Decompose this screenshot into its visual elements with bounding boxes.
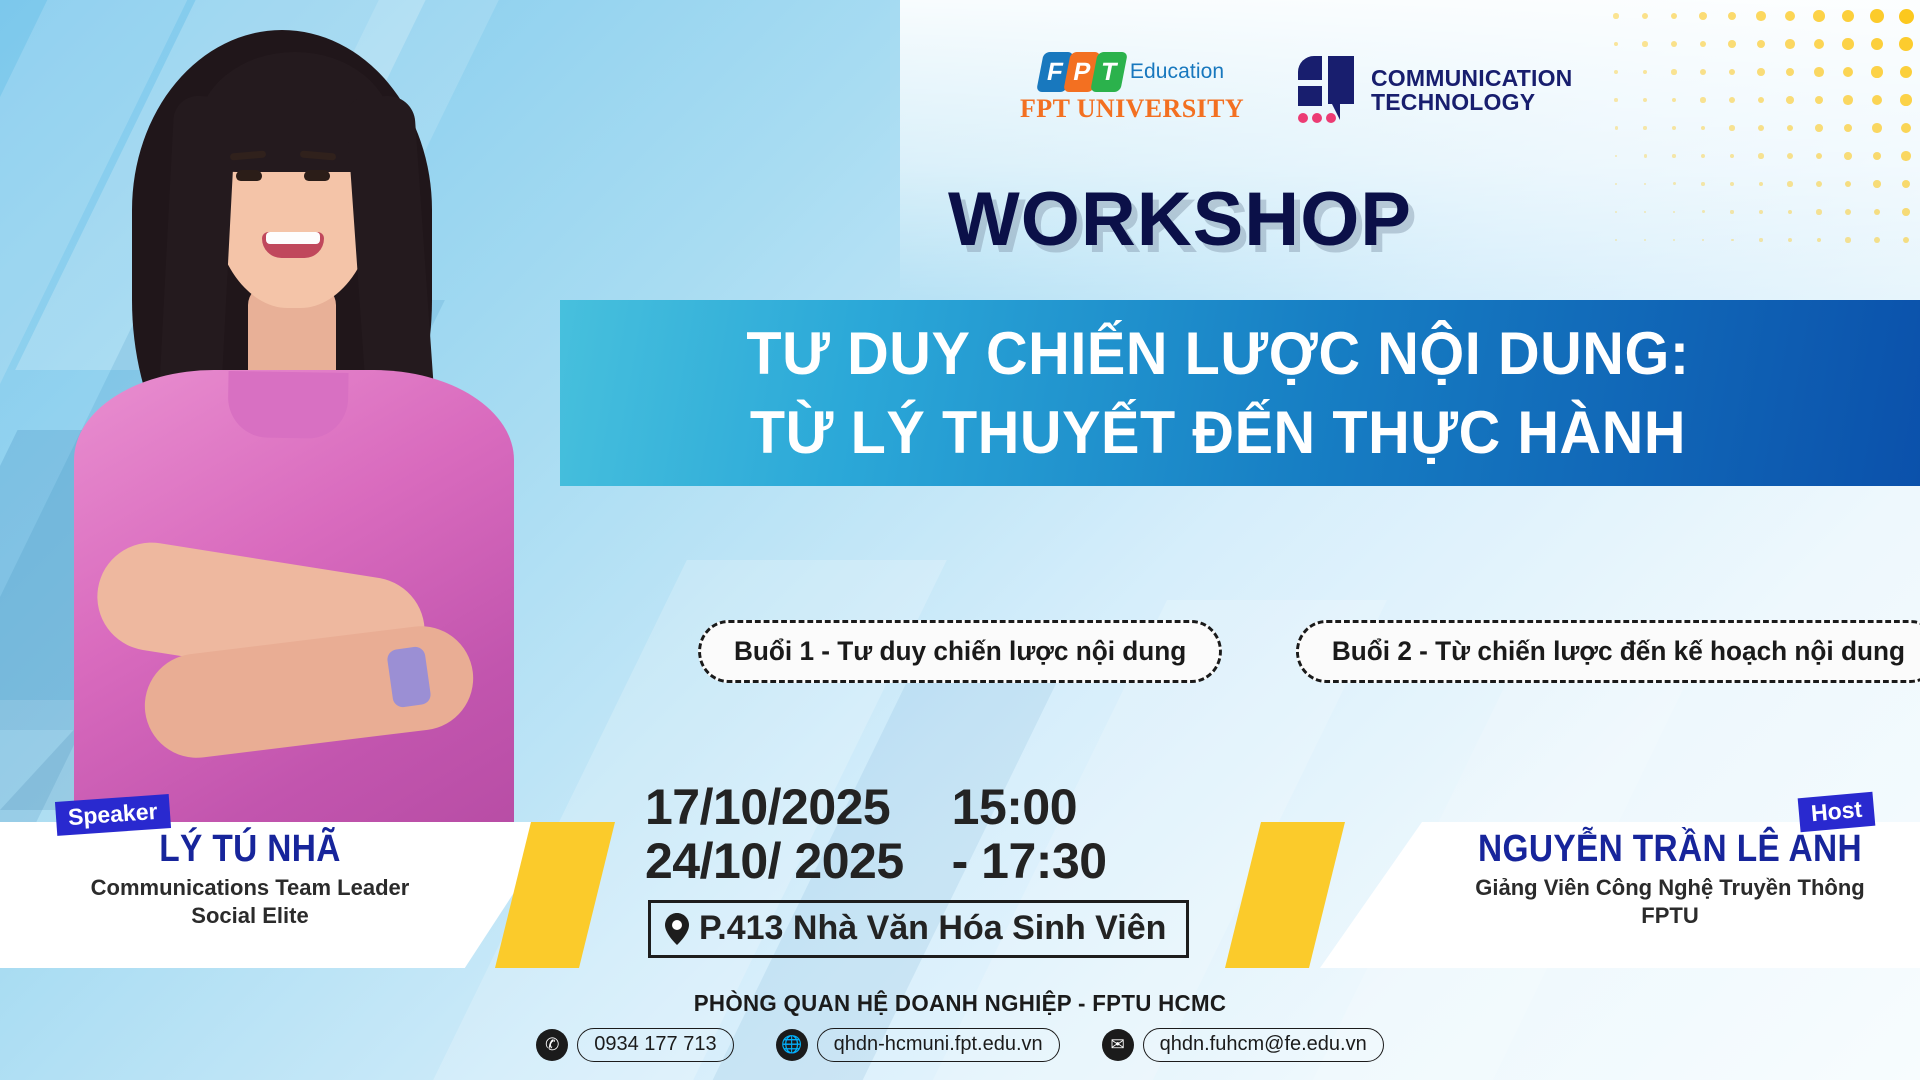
fpt-letter-t: T bbox=[1090, 52, 1128, 92]
schedule-time-start: 15:00 bbox=[952, 780, 1107, 834]
schedule-dates: 17/10/2025 24/10/ 2025 bbox=[645, 780, 904, 888]
session-list: Buổi 1 - Tư duy chiến lược nội dung Buổi… bbox=[690, 620, 1920, 683]
map-pin-icon bbox=[665, 913, 689, 945]
host-info: NGUYỄN TRẦN LÊ ANH Giảng Viên Công Nghệ … bbox=[1430, 828, 1910, 929]
host-tag-badge: Host bbox=[1798, 792, 1876, 832]
yellow-accent-right bbox=[1225, 822, 1345, 968]
ct-logo-line-2: TECHNOLOGY bbox=[1371, 90, 1572, 114]
contact-website-value: qhdn-hcmuni.fpt.edu.vn bbox=[817, 1028, 1060, 1062]
speaker-role-line-1: Communications Team Leader bbox=[10, 874, 490, 902]
schedule-datetime: 17/10/2025 24/10/ 2025 15:00 - 17:30 bbox=[645, 780, 1107, 888]
poster-canvas: F P T Education FPT UNIVERSITY COMMUNICA… bbox=[0, 0, 1920, 1080]
fpt-logo-mark: F P T bbox=[1036, 52, 1125, 92]
workshop-title-line-1: TƯ DUY CHIẾN LƯỢC NỘI DUNG: bbox=[586, 314, 1849, 393]
session-pill-2[interactable]: Buổi 2 - Từ chiến lược đến kế hoạch nội … bbox=[1296, 620, 1920, 683]
fpt-education-label: Education bbox=[1130, 60, 1224, 84]
host-role-line-2: FPTU bbox=[1430, 902, 1910, 930]
contact-phone-value: 0934 177 713 bbox=[577, 1028, 733, 1062]
speaker-portrait-photo bbox=[60, 0, 530, 890]
contact-email[interactable]: ✉ qhdn.fuhcm@fe.edu.vn bbox=[1102, 1028, 1384, 1062]
schedule-times: 15:00 - 17:30 bbox=[952, 780, 1107, 888]
logo-bar: F P T Education FPT UNIVERSITY COMMUNICA… bbox=[1020, 52, 1572, 126]
host-role-line-1: Giảng Viên Công Nghệ Truyền Thông bbox=[1430, 874, 1910, 902]
schedule-date-2: 24/10/ 2025 bbox=[645, 834, 904, 888]
speaker-info: LÝ TÚ NHÃ Communications Team Leader Soc… bbox=[10, 828, 490, 929]
host-name: NGUYỄN TRẦN LÊ ANH bbox=[1459, 828, 1881, 871]
fpt-university-logo: F P T Education FPT UNIVERSITY bbox=[1020, 52, 1244, 124]
footer-organizer: PHÒNG QUAN HỆ DOANH NGHIỆP - FPTU HCMC bbox=[29, 990, 1891, 1017]
speaker-role-line-2: Social Elite bbox=[10, 902, 490, 930]
communication-technology-logo: COMMUNICATION TECHNOLOGY bbox=[1296, 54, 1572, 126]
workshop-eyebrow-heading: WORKSHOP bbox=[0, 176, 1920, 263]
workshop-title-line-2: TỪ LÝ THUYẾT ĐẾN THỰC HÀNH bbox=[586, 393, 1849, 472]
speaker-name: LÝ TÚ NHÃ bbox=[39, 828, 461, 871]
mail-icon: ✉ bbox=[1102, 1029, 1134, 1061]
schedule-date-1: 17/10/2025 bbox=[645, 780, 904, 834]
schedule-location-box: P.413 Nhà Văn Hóa Sinh Viên bbox=[648, 900, 1189, 958]
ct-logo-line-1: COMMUNICATION bbox=[1371, 66, 1572, 90]
fpt-university-label: FPT UNIVERSITY bbox=[1020, 94, 1244, 124]
schedule-location-text: P.413 Nhà Văn Hóa Sinh Viên bbox=[699, 909, 1166, 948]
footer-contact-bar: PHÒNG QUAN HỆ DOANH NGHIỆP - FPTU HCMC ✆… bbox=[0, 990, 1920, 1062]
globe-icon: 🌐 bbox=[776, 1029, 808, 1061]
contact-website[interactable]: 🌐 qhdn-hcmuni.fpt.edu.vn bbox=[776, 1028, 1060, 1062]
contact-phone[interactable]: ✆ 0934 177 713 bbox=[536, 1028, 733, 1062]
phone-icon: ✆ bbox=[536, 1029, 568, 1061]
workshop-title-band: TƯ DUY CHIẾN LƯỢC NỘI DUNG: TỪ LÝ THUYẾT… bbox=[560, 300, 1920, 486]
schedule-time-end: - 17:30 bbox=[952, 834, 1107, 888]
contact-email-value: qhdn.fuhcm@fe.edu.vn bbox=[1143, 1028, 1384, 1062]
session-pill-1[interactable]: Buổi 1 - Tư duy chiến lược nội dung bbox=[698, 620, 1222, 683]
speech-bubble-icon bbox=[1296, 54, 1358, 126]
